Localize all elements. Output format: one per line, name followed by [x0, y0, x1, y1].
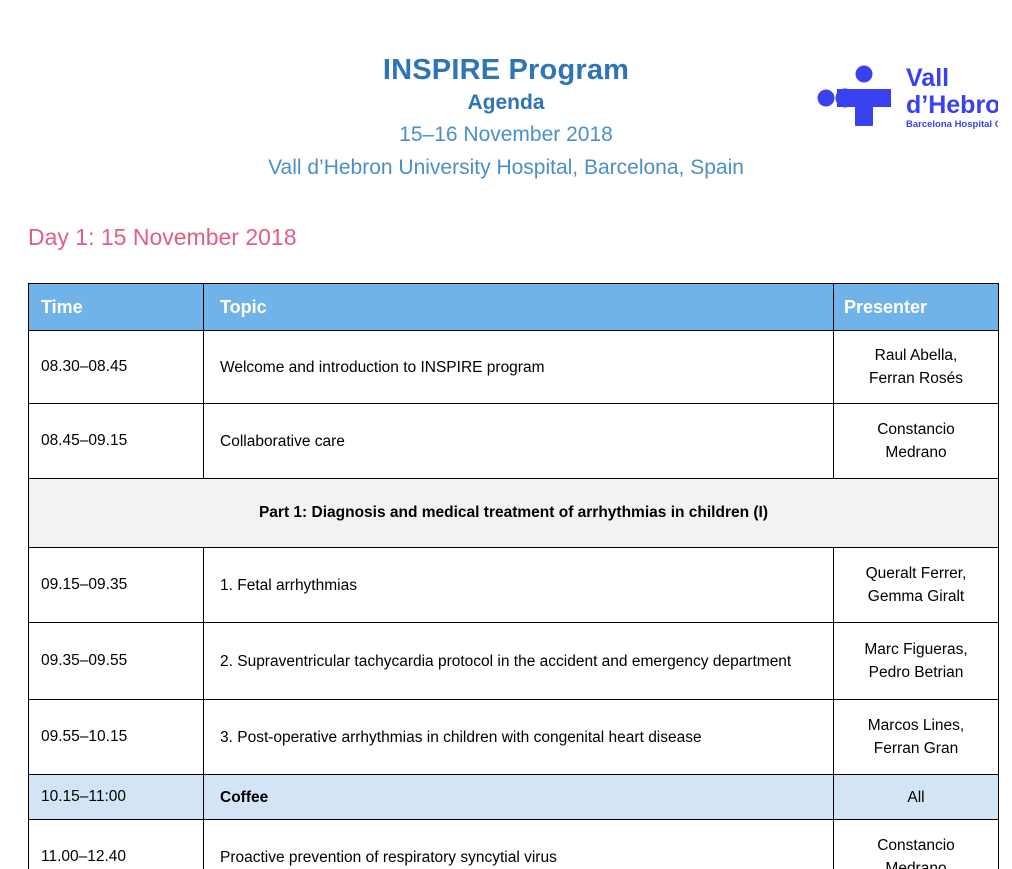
table-row: 09.55–10.15 3. Post-operative arrhythmia… — [29, 700, 999, 775]
cell-presenter: ConstancioMedrano — [834, 820, 999, 869]
cell-topic: 3. Post-operative arrhythmias in childre… — [204, 700, 834, 775]
table-row: 09.15–09.35 1. Fetal arrhythmias Queralt… — [29, 548, 999, 623]
agenda-table: Time Topic Presenter 08.30–08.45 Welcome… — [28, 283, 999, 869]
cell-topic: Welcome and introduction to INSPIRE prog… — [204, 331, 834, 404]
table-row-break: 10.15–11:00 Coffee All — [29, 775, 999, 820]
cell-time: 08.45–09.15 — [29, 404, 204, 479]
cell-time: 09.15–09.35 — [29, 548, 204, 623]
cell-time: 11.00–12.40 — [29, 820, 204, 869]
cell-time: 09.35–09.55 — [29, 623, 204, 700]
column-header-presenter: Presenter — [834, 284, 999, 331]
table-row: 09.35–09.55 2. Supraventricular tachycar… — [29, 623, 999, 700]
column-header-topic: Topic — [204, 284, 834, 331]
cell-presenter: Marc Figueras,Pedro Betrian — [834, 623, 999, 700]
event-venue: Vall d’Hebron University Hospital, Barce… — [0, 151, 1012, 184]
logo-wordmark-line1: Vall — [906, 64, 949, 92]
cell-presenter: Marcos Lines,Ferran Gran — [834, 700, 999, 775]
logo-dot-top — [856, 66, 873, 83]
column-header-time: Time — [29, 284, 204, 331]
logo-mark-icon: Vall d’Hebron Barcelona Hospital Campus — [812, 60, 998, 136]
vall-dhebron-logo: Vall d’Hebron Barcelona Hospital Campus — [812, 60, 998, 136]
cell-time: 08.30–08.45 — [29, 331, 204, 404]
cell-presenter: Raul Abella,Ferran Rosés — [834, 331, 999, 404]
cell-time: 09.55–10.15 — [29, 700, 204, 775]
day-heading: Day 1: 15 November 2018 — [28, 222, 297, 252]
cell-presenter: ConstancioMedrano — [834, 404, 999, 479]
table-row: 08.45–09.15 Collaborative care Constanci… — [29, 404, 999, 479]
table-section-row: Part 1: Diagnosis and medical treatment … — [29, 479, 999, 548]
logo-tagline: Barcelona Hospital Campus — [906, 119, 998, 130]
document-header: INSPIRE Program Agenda 15–16 November 20… — [0, 0, 1012, 205]
cell-presenter: All — [834, 775, 999, 820]
logo-dot-left-outer — [818, 90, 835, 107]
cell-topic: 1. Fetal arrhythmias — [204, 548, 834, 623]
agenda-document-page: INSPIRE Program Agenda 15–16 November 20… — [0, 0, 1012, 869]
cell-time: 10.15–11:00 — [29, 775, 204, 820]
section-label: Part 1: Diagnosis and medical treatment … — [29, 479, 999, 548]
cell-presenter: Queralt Ferrer,Gemma Giralt — [834, 548, 999, 623]
cell-topic: Proactive prevention of respiratory sync… — [204, 820, 834, 869]
table-header: Time Topic Presenter — [29, 284, 999, 331]
table-body: 08.30–08.45 Welcome and introduction to … — [29, 331, 999, 869]
logo-cross-horizontal — [837, 89, 891, 107]
cell-topic: 2. Supraventricular tachycardia protocol… — [204, 623, 834, 700]
cell-topic: Coffee — [204, 775, 834, 820]
table-row: 11.00–12.40 Proactive prevention of resp… — [29, 820, 999, 869]
logo-wordmark-line2: d’Hebron — [906, 91, 998, 119]
cell-topic: Collaborative care — [204, 404, 834, 479]
table-row: 08.30–08.45 Welcome and introduction to … — [29, 331, 999, 404]
table-header-row: Time Topic Presenter — [29, 284, 999, 331]
